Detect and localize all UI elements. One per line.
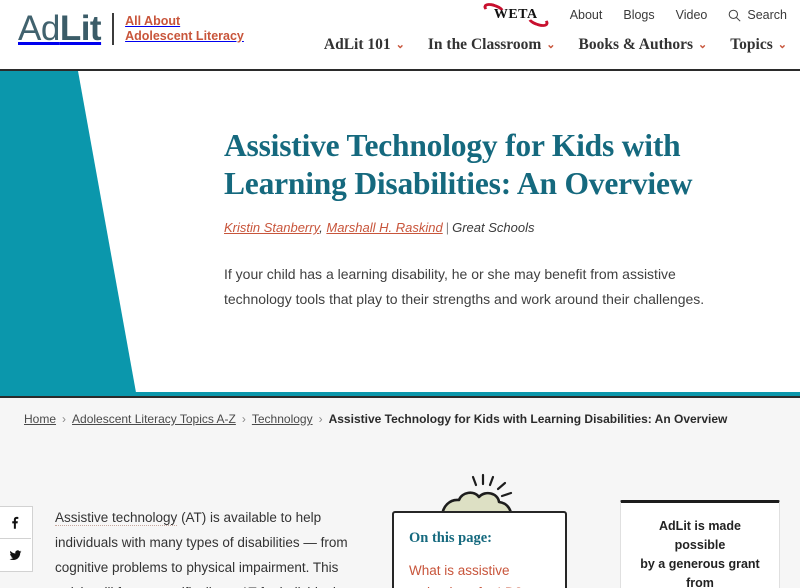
breadcrumb: Home › Adolescent Literacy Topics A-Z › … [24, 412, 727, 426]
wordmark-lit: Lit [60, 9, 101, 48]
main-nav: AdLit 101 ⌄ In the Classroom ⌄ Books & A… [324, 36, 787, 54]
sponsor-line-3: from [633, 574, 767, 588]
twitter-icon [9, 549, 22, 562]
breadcrumb-separator-icon: › [319, 412, 323, 426]
byline: Kristin Stanberry, Marshall H. Raskind|G… [224, 220, 764, 235]
search-button[interactable]: Search [728, 8, 787, 22]
nav-label-in-the-classroom: In the Classroom [428, 36, 541, 54]
nav-item-books-authors[interactable]: Books & Authors ⌄ [578, 36, 707, 54]
share-facebook-button[interactable] [0, 507, 31, 539]
author-link-1[interactable]: Kristin Stanberry [224, 220, 319, 235]
hero-accent-shape [0, 71, 160, 398]
assistive-technology-link[interactable]: Assistive technology [55, 510, 177, 526]
util-nav-blogs[interactable]: Blogs [623, 8, 654, 22]
sponsor-line-2: by a generous grant [633, 555, 767, 574]
chevron-down-icon: ⌄ [698, 40, 707, 51]
social-share-rail [0, 506, 33, 572]
on-this-page-item-1[interactable]: What is assistive technology for LD? [409, 560, 550, 588]
breadcrumb-item-home[interactable]: Home [24, 412, 56, 426]
search-label: Search [747, 8, 787, 22]
chevron-down-icon: ⌄ [778, 40, 787, 51]
on-this-page-card: On this page: What is assistive technolo… [392, 511, 567, 588]
nav-label-books-authors: Books & Authors [578, 36, 693, 54]
brand-divider [112, 13, 114, 45]
on-this-page-title: On this page: [409, 530, 550, 547]
hero-content: Assistive Technology for Kids with Learn… [224, 127, 764, 312]
util-nav-about[interactable]: About [570, 8, 603, 22]
nav-item-in-the-classroom[interactable]: In the Classroom ⌄ [428, 36, 556, 54]
chevron-down-icon: ⌄ [546, 40, 555, 51]
utility-nav: WETA About Blogs Video Search [483, 3, 787, 27]
brand-tagline-line2: Adolescent Literacy [125, 29, 244, 45]
chevron-down-icon: ⌄ [396, 40, 405, 51]
sponsor-card: AdLit is made possible by a generous gra… [620, 500, 780, 588]
share-twitter-button[interactable] [0, 539, 31, 571]
hero-section: Assistive Technology for Kids with Learn… [0, 71, 800, 398]
weta-wordmark: WETA [494, 7, 538, 23]
weta-logo[interactable]: WETA [483, 3, 549, 27]
nav-label-adlit-101: AdLit 101 [324, 36, 391, 54]
nav-item-topics[interactable]: Topics ⌄ [730, 36, 787, 54]
search-icon [728, 9, 741, 22]
brand-tagline-line1: All About [125, 14, 244, 30]
breadcrumb-separator-icon: › [242, 412, 246, 426]
wordmark-ad: Ad [18, 9, 60, 48]
sponsor-line-1: AdLit is made possible [633, 517, 767, 555]
adlit-wordmark: AdLit [18, 10, 101, 48]
breadcrumb-item-technology[interactable]: Technology [252, 412, 313, 426]
page-title: Assistive Technology for Kids with Learn… [224, 127, 764, 203]
breadcrumb-item-topics-az[interactable]: Adolescent Literacy Topics A-Z [72, 412, 236, 426]
author-link-2[interactable]: Marshall H. Raskind [326, 220, 442, 235]
nav-item-adlit-101[interactable]: AdLit 101 ⌄ [324, 36, 405, 54]
page-root: AdLit All About Adolescent Literacy WETA… [0, 0, 800, 588]
brand-tagline: All About Adolescent Literacy [125, 14, 244, 45]
site-logo-link[interactable]: AdLit All About Adolescent Literacy [18, 10, 244, 48]
hero-description: If your child has a learning disability,… [224, 262, 734, 312]
breadcrumb-separator-icon: › [62, 412, 66, 426]
breadcrumb-item-current: Assistive Technology for Kids with Learn… [329, 412, 728, 426]
facebook-icon [9, 516, 22, 529]
byline-pipe: | [443, 220, 452, 235]
site-header: AdLit All About Adolescent Literacy WETA… [0, 0, 800, 71]
publication-name: Great Schools [452, 220, 534, 235]
util-nav-video[interactable]: Video [676, 8, 708, 22]
article-body: Assistive technology (AT) is available t… [55, 505, 355, 588]
nav-label-topics: Topics [730, 36, 773, 54]
